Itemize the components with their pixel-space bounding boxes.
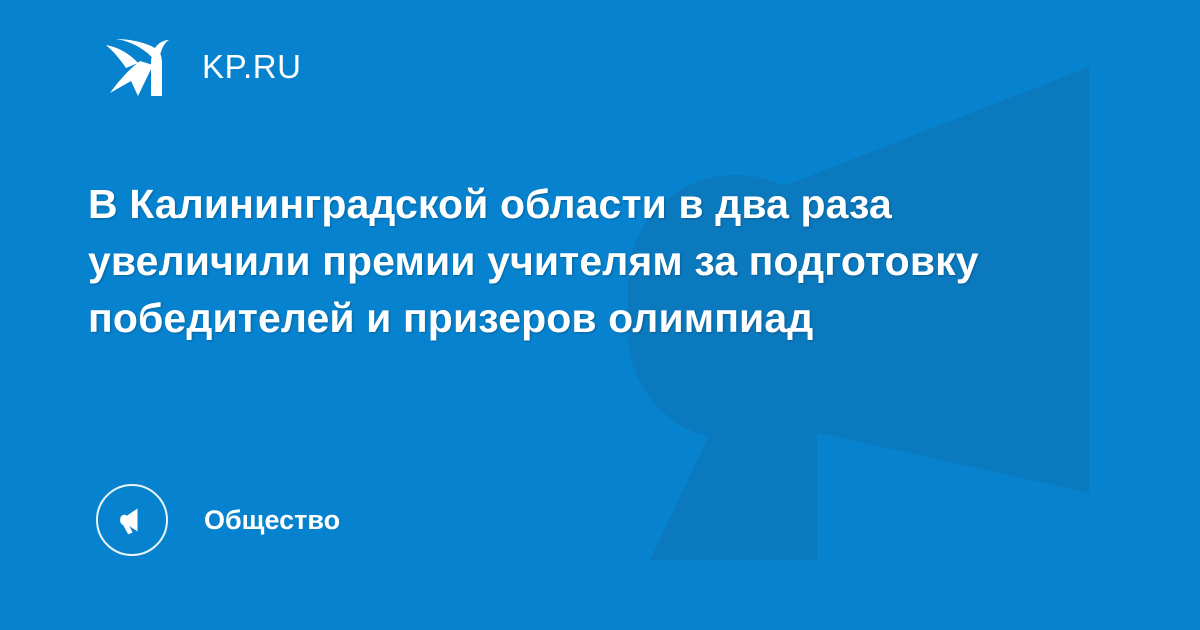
category-icon-circle (96, 484, 168, 556)
brand-header[interactable]: KP.RU (104, 34, 302, 98)
swallow-bird-logo-icon (104, 35, 170, 97)
brand-name: KP.RU (202, 50, 302, 83)
category-label: Общество (204, 507, 340, 534)
social-share-card: KP.RU В Калининградской области в два ра… (0, 0, 1200, 630)
category-badge[interactable]: Общество (96, 484, 340, 556)
page-title: В Калининградской области в два раза уве… (88, 176, 1098, 347)
megaphone-icon (112, 500, 152, 540)
